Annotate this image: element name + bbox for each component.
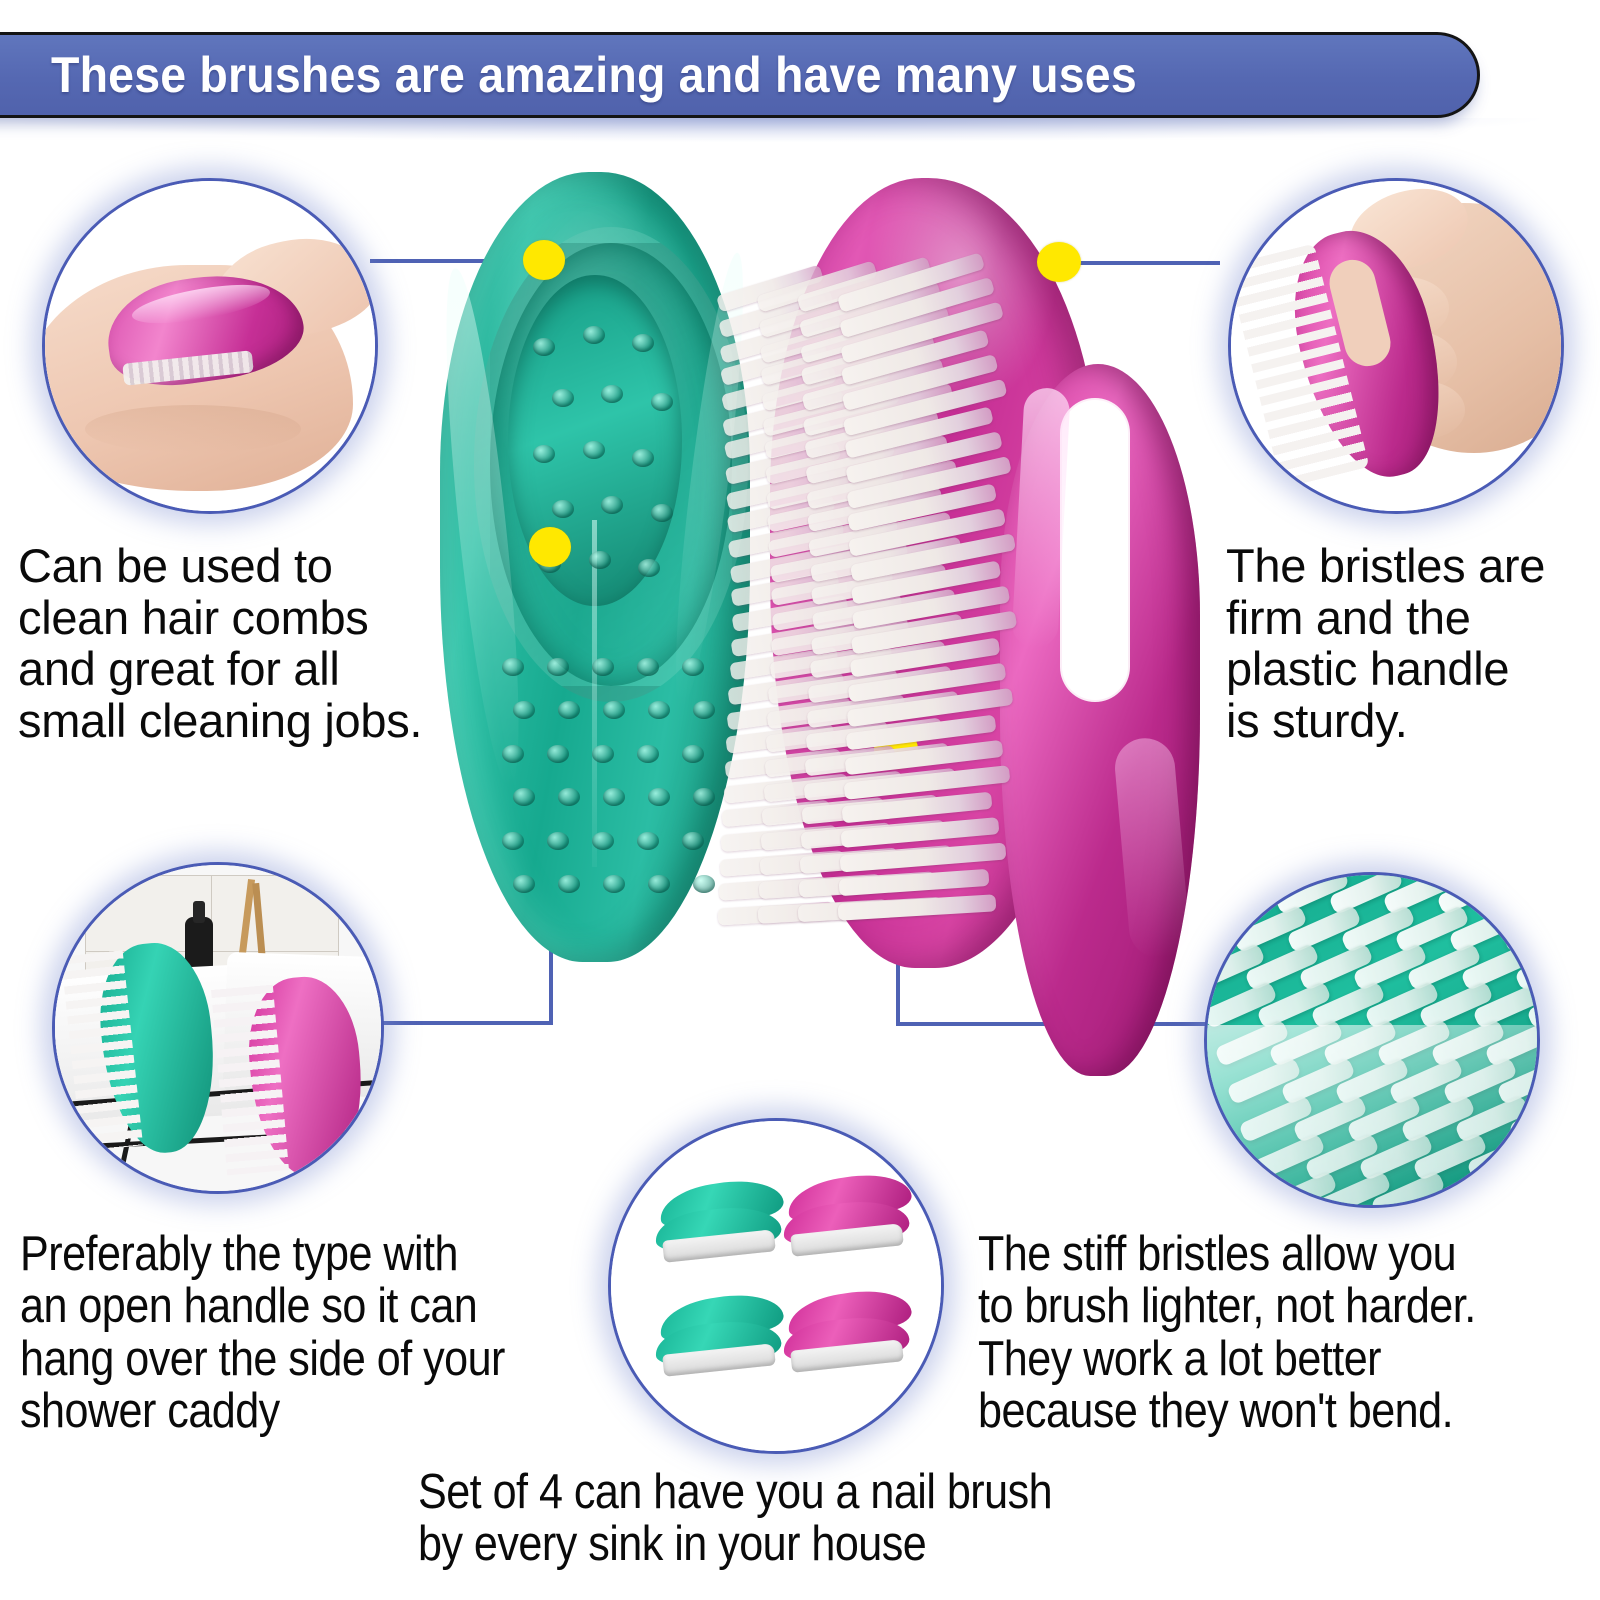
dot-teal-mid[interactable] [529, 527, 571, 567]
teal-brush-nub [558, 701, 580, 719]
photo-palm-holding-pink-brush [45, 181, 375, 511]
teal-brush-nub [682, 745, 704, 763]
header-banner: These brushes are amazing and have many … [0, 32, 1480, 118]
pink-brush-handle-opening [1062, 400, 1128, 700]
nail-brush-teal-1 [653, 1183, 785, 1265]
teal-brush-nub [547, 745, 569, 763]
caption-bottom-right: The stiff bristles allow you to brush li… [978, 1228, 1594, 1438]
nail-brush-pink-2 [781, 1293, 913, 1375]
teal-brush-nub [583, 326, 605, 344]
teal-brush-nub [558, 875, 580, 893]
teal-brush-nub [637, 658, 659, 676]
bubble-set-of-four-nail-brushes[interactable] [608, 1118, 944, 1454]
teal-brush-nub [592, 658, 614, 676]
teal-brush-nub [513, 788, 535, 806]
teal-brush-nub [682, 832, 704, 850]
teal-brush-nub [651, 393, 673, 411]
bristle [837, 894, 996, 920]
teal-brush-nub [502, 832, 524, 850]
teal-brush-nub [592, 832, 614, 850]
caption-bottom-center: Set of 4 can have you a nail brush by ev… [418, 1466, 1157, 1571]
teal-brush-nub [513, 701, 535, 719]
teal-brush-nub [558, 788, 580, 806]
nail-brush-pink-1 [781, 1177, 913, 1259]
teal-brush-nub [603, 875, 625, 893]
teal-brush-nub [632, 449, 654, 467]
teal-brush-nub [637, 745, 659, 763]
teal-brush-nub [648, 701, 670, 719]
teal-brush-nub [638, 559, 660, 577]
teal-brush-nub [552, 500, 574, 518]
dropper-cap [193, 901, 205, 923]
bubble-bristles-closeup[interactable] [1204, 872, 1540, 1208]
bristle-tuft [1538, 1019, 1540, 1067]
teal-brush-nub [592, 745, 614, 763]
teal-brush-nub [651, 504, 673, 522]
bristle [838, 869, 989, 896]
caption-top-right: The bristles are firm and the plastic ha… [1226, 540, 1600, 747]
teal-brush-nub [693, 701, 715, 719]
teal-brush-nub [547, 832, 569, 850]
teal-brush-nub [583, 441, 605, 459]
bubble-hand-gripping-pink-brush[interactable] [1228, 178, 1564, 514]
teal-brush-nub [513, 875, 535, 893]
bubble-palm-holding-pink-brush[interactable] [42, 178, 378, 514]
caption-top-left: Can be used to clean hair combs and grea… [18, 540, 488, 747]
teal-brush-nub [603, 788, 625, 806]
teal-brush-nub [533, 338, 555, 356]
teal-brush-nub [637, 832, 659, 850]
closeup-light-sweep [1204, 1025, 1540, 1208]
nail-brush-teal-2 [653, 1297, 785, 1379]
teal-brush-nub [533, 445, 555, 463]
teal-brush-nub [682, 658, 704, 676]
photo-brushes-on-shower-caddy [55, 865, 381, 1191]
finger-crease [85, 405, 301, 453]
teal-brush-nub [589, 551, 611, 569]
dot-teal-top[interactable] [523, 240, 565, 280]
photo-bristles-closeup [1207, 875, 1537, 1205]
teal-brush-nub [648, 788, 670, 806]
teal-brush-nub [552, 389, 574, 407]
teal-brush-nub [601, 385, 623, 403]
pink-brush-bristles [722, 274, 1052, 934]
teal-brush-nub [693, 788, 715, 806]
teal-brush-nub [693, 875, 715, 893]
teal-brush-nub [648, 875, 670, 893]
page-title: These brushes are amazing and have many … [51, 46, 1137, 104]
pink-brush-product [770, 178, 1190, 968]
banner-glow [0, 118, 1540, 152]
teal-brush-nub [632, 334, 654, 352]
photo-set-of-four-nail-brushes [611, 1121, 941, 1451]
infographic-canvas: These brushes are amazing and have many … [0, 0, 1600, 1600]
teal-brush-nub [601, 496, 623, 514]
wall-tile-2 [211, 875, 339, 953]
teal-brush-nub [502, 658, 524, 676]
teal-brush-nub [603, 701, 625, 719]
caption-bottom-left: Preferably the type with an open handle … [20, 1228, 601, 1438]
bubble-brushes-on-shower-caddy[interactable] [52, 862, 384, 1194]
teal-brush-nub [547, 658, 569, 676]
photo-hand-gripping-pink-brush [1231, 181, 1561, 511]
teal-brush-nub [502, 745, 524, 763]
